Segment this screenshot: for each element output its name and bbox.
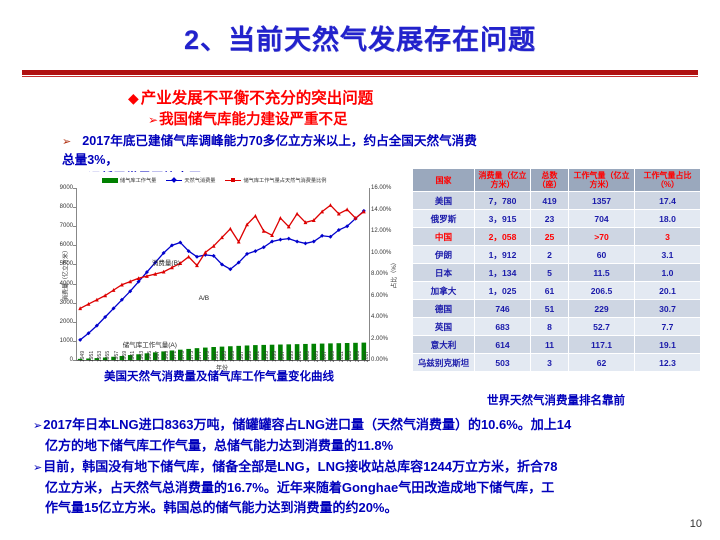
table-cell-count: 25 — [531, 228, 569, 246]
legend-item-0: 储气库工作气量 — [102, 177, 156, 184]
chart-xtick: 1949 — [80, 351, 86, 362]
table-cell-consumption: 3，915 — [475, 210, 531, 228]
table-cell-share: 1.0 — [635, 264, 701, 282]
table-cell-country: 俄罗斯 — [413, 210, 475, 228]
world-gas-table: 国家 消费量（亿立方米） 总数（座） 工作气量（亿立方米） 工作气量占比（%） … — [412, 168, 701, 372]
table-cell-share: 3.1 — [635, 246, 701, 264]
chart-xtick: 1953 — [97, 351, 103, 362]
table-cell-country: 中国 — [413, 228, 475, 246]
page-title: 2、当前天然气发展存在问题 — [184, 18, 536, 57]
table-cell-consumption: 1，912 — [475, 246, 531, 264]
table-cell-country: 美国 — [413, 192, 475, 210]
chart-xtick: 1979 — [205, 351, 211, 362]
table-cell-working-gas: 52.7 — [569, 318, 635, 336]
table-cell-working-gas: 11.5 — [569, 264, 635, 282]
legend-label-2: 储气库工作气量占天然气消费量比例 — [243, 177, 326, 184]
table-cell-count: 8 — [531, 318, 569, 336]
table-cell-consumption: 503 — [475, 354, 531, 372]
chart-xtick: 1951 — [89, 351, 95, 362]
chart-xtick: 1983 — [222, 351, 228, 362]
table-cell-working-gas: 206.5 — [569, 282, 635, 300]
page-title-wrap: 2、当前天然气发展存在问题 — [0, 18, 720, 57]
table-header-consumption: 消费量（亿立方米） — [475, 169, 531, 192]
table-body: 美国7，780419135717.4俄罗斯3，9152370418.0中国2，0… — [413, 192, 701, 372]
chart-xtick: 1973 — [180, 351, 186, 362]
chart-xtick: 1955 — [105, 351, 111, 362]
chart-xtick: 1987 — [239, 351, 245, 362]
chart-xtick: 1961 — [130, 351, 136, 362]
table-row: 美国7，780419135717.4 — [413, 192, 701, 210]
table-cell-working-gas: 60 — [569, 246, 635, 264]
table-cell-share: 19.1 — [635, 336, 701, 354]
table-cell-share: 7.7 — [635, 318, 701, 336]
table-row: 乌兹别克斯坦50336212.3 — [413, 354, 701, 372]
table-cell-consumption: 614 — [475, 336, 531, 354]
chart-ytick-left: 1000 — [60, 338, 73, 344]
bullet-level2: ➢我国储气库能力建设严重不足 — [148, 108, 348, 129]
table-header-country: 国家 — [413, 169, 475, 192]
table-cell-consumption: 1，134 — [475, 264, 531, 282]
chart-ytick-right: 6.00% — [371, 293, 388, 299]
world-gas-table-wrap: 国家 消费量（亿立方米） 总数（座） 工作气量（亿立方米） 工作气量占比（%） … — [412, 168, 700, 372]
title-divider-thin — [22, 76, 698, 77]
table-cell-share: 30.7 — [635, 300, 701, 318]
paragraph-korea: ➢目前，韩国没有地下储气库，储备全部是LNG，LNG接收站总库容1244万立方米… — [33, 457, 689, 518]
chart-ytick-right: 0.00% — [371, 357, 388, 363]
table-cell-consumption: 746 — [475, 300, 531, 318]
chart-ytick-mark — [73, 322, 76, 323]
table-cell-working-gas: 117.1 — [569, 336, 635, 354]
chart-xtick: 1991 — [255, 351, 261, 362]
legend-item-1: 天然气消费量 — [166, 177, 215, 184]
chart-ytick-right: 2.00% — [371, 336, 388, 342]
table-cell-count: 61 — [531, 282, 569, 300]
bullet-level1-text: 产业发展不平衡不充分的突出问题 — [141, 90, 374, 107]
arrow-bullet-icon: ➢ — [148, 113, 158, 127]
slide-root: 2、当前天然气发展存在问题 ◆产业发展不平衡不充分的突出问题 ➢我国储气库能力建… — [0, 0, 720, 540]
chart-ytick-mark — [73, 360, 76, 361]
gas-consumption-chart: 储气库工作气量 天然气消费量 储气库工作气量占天然气消费量比例 90008000… — [30, 172, 408, 390]
paragraph-japan-line2: 亿方的地下储气库工作气量，总储气能力达到消费量的11.8% — [45, 436, 689, 456]
chart-xtick: 2003 — [305, 351, 311, 362]
bullet-level1: ◆产业发展不平衡不充分的突出问题 — [128, 86, 373, 108]
chart-xtick: 1971 — [172, 351, 178, 362]
chart-ylabel-left: 消费量（亿立方米） — [61, 247, 70, 301]
chart-xtick: 2009 — [330, 351, 336, 362]
table-cell-count: 11 — [531, 336, 569, 354]
table-cell-consumption: 683 — [475, 318, 531, 336]
table-cell-count: 51 — [531, 300, 569, 318]
chart-xtick: 1999 — [289, 351, 295, 362]
table-row: 俄罗斯3，9152370418.0 — [413, 210, 701, 228]
table-cell-consumption: 2，058 — [475, 228, 531, 246]
table-cell-working-gas: 704 — [569, 210, 635, 228]
paragraph-korea-line3: 作气量15亿立方米。韩国总的储气能力达到消费量的约20%。 — [45, 498, 689, 518]
title-divider — [22, 70, 698, 75]
arrow-bullet-icon-3: ➢ — [33, 420, 42, 432]
table-row: 德国7465122930.7 — [413, 300, 701, 318]
chart-ytick-left: 7000 — [60, 223, 73, 229]
arrow-bullet-icon-2: ➢ — [62, 136, 71, 148]
table-cell-country: 意大利 — [413, 336, 475, 354]
table-cell-count: 5 — [531, 264, 569, 282]
chart-caption: 美国天然气消费量及储气库工作气量变化曲线 — [30, 368, 408, 384]
table-header-count: 总数（座） — [531, 169, 569, 192]
bullet-level3-line1: 2017年底已建储气库调峰能力70多亿立方米以上，约占全国天然气消费总量3%， — [62, 134, 477, 167]
table-cell-share: 3 — [635, 228, 701, 246]
paragraph-korea-line1: 目前，韩国没有地下储气库，储备全部是LNG，LNG接收站总库容1244万立方米，… — [43, 459, 557, 474]
arrow-bullet-icon-4: ➢ — [33, 462, 42, 474]
chart-xtick: 2015 — [355, 351, 361, 362]
table-row: 意大利61411117.119.1 — [413, 336, 701, 354]
paragraph-korea-line2: 亿立方米，占天然气总消费量的16.7%。近年来随着Gonghae气田改造成地下储… — [45, 478, 689, 498]
chart-xtick: 1997 — [280, 351, 286, 362]
table-cell-working-gas: >70 — [569, 228, 635, 246]
chart-xtick: 1977 — [197, 351, 203, 362]
table-header-share: 工作气量占比（%） — [635, 169, 701, 192]
table-row: 中国2，05825>703 — [413, 228, 701, 246]
table-cell-share: 20.1 — [635, 282, 701, 300]
chart-legend: 储气库工作气量 天然气消费量 储气库工作气量占天然气消费量比例 — [102, 174, 402, 186]
chart-xtick: 1989 — [247, 351, 253, 362]
table-cell-country: 日本 — [413, 264, 475, 282]
chart-xtick: 2011 — [339, 351, 345, 362]
chart-annotation-ratio: A/B — [199, 295, 209, 302]
chart-ytick-right: 16.00% — [371, 185, 391, 191]
table-cell-share: 12.3 — [635, 354, 701, 372]
legend-label-0: 储气库工作气量 — [120, 177, 156, 184]
paragraph-japan-line1: 2017年日本LNG进口8363万吨，储罐罐容占LNG进口量（天然气消费量）的1… — [43, 417, 571, 432]
table-row: 日本1，134511.51.0 — [413, 264, 701, 282]
chart-xtick: 2001 — [297, 351, 303, 362]
chart-svg — [76, 188, 368, 360]
chart-xtick: 1959 — [122, 351, 128, 362]
chart-ytick-mark — [73, 264, 76, 265]
table-caption: 世界天然气消费量排名靠前 — [412, 392, 700, 408]
chart-ytick-right: 14.00% — [371, 207, 391, 213]
chart-ytick-mark — [73, 245, 76, 246]
legend-item-2: 储气库工作气量占天然气消费量比例 — [225, 177, 326, 184]
table-row: 英国683852.77.7 — [413, 318, 701, 336]
chart-ytick-mark — [73, 207, 76, 208]
chart-ytick-left: 2000 — [60, 319, 73, 325]
table-row: 伊朗1，9122603.1 — [413, 246, 701, 264]
chart-plot-area: 9000800070006000500040003000200010000 16… — [76, 188, 368, 360]
chart-ytick-mark — [73, 303, 76, 304]
table-cell-country: 英国 — [413, 318, 475, 336]
chart-xtick: 1995 — [272, 351, 278, 362]
chart-xtick: 1985 — [230, 351, 236, 362]
table-cell-consumption: 7，780 — [475, 192, 531, 210]
table-row: 加拿大1，02561206.520.1 — [413, 282, 701, 300]
table-cell-working-gas: 229 — [569, 300, 635, 318]
table-header-row: 国家 消费量（亿立方米） 总数（座） 工作气量（亿立方米） 工作气量占比（%） — [413, 169, 701, 192]
legend-label-1: 天然气消费量 — [184, 177, 215, 184]
chart-xtick: 1965 — [147, 351, 153, 362]
paragraph-japan: ➢2017年日本LNG进口8363万吨，储罐罐容占LNG进口量（天然气消费量）的… — [33, 415, 689, 456]
chart-xtick: 1963 — [139, 351, 145, 362]
chart-annotation-consumption: 消费量(B) — [152, 257, 180, 267]
table-cell-share: 17.4 — [635, 192, 701, 210]
bullet-level2-text: 我国储气库能力建设严重不足 — [159, 112, 348, 128]
chart-xtick: 1975 — [189, 351, 195, 362]
chart-xtick: 2013 — [347, 351, 353, 362]
table-cell-share: 18.0 — [635, 210, 701, 228]
chart-ytick-left: 9000 — [60, 185, 73, 191]
table-header-workinggas: 工作气量（亿立方米） — [569, 169, 635, 192]
table-cell-count: 419 — [531, 192, 569, 210]
chart-xtick: 1981 — [214, 351, 220, 362]
chart-ytick-left: 8000 — [60, 204, 73, 210]
chart-ytick-mark — [73, 188, 76, 189]
chart-xtick: 2017 — [364, 351, 370, 362]
chart-ytick-right: 10.00% — [371, 250, 391, 256]
chart-ylabel-right: 占比（%） — [389, 259, 398, 288]
table-cell-count: 3 — [531, 354, 569, 372]
chart-annotation-working-gas: 储气库工作气量(A) — [123, 339, 177, 349]
table-cell-country: 伊朗 — [413, 246, 475, 264]
chart-ytick-mark — [73, 341, 76, 342]
chart-xtick: 1993 — [264, 351, 270, 362]
chart-ytick-mark — [73, 226, 76, 227]
legend-swatch-line-red-icon — [225, 180, 241, 181]
table-cell-country: 乌兹别克斯坦 — [413, 354, 475, 372]
table-cell-working-gas: 1357 — [569, 192, 635, 210]
table-cell-count: 2 — [531, 246, 569, 264]
chart-ytick-right: 12.00% — [371, 228, 391, 234]
chart-ytick-mark — [73, 284, 76, 285]
chart-ytick-right: 8.00% — [371, 271, 388, 277]
chart-ytick-right: 4.00% — [371, 314, 388, 320]
chart-xtick: 1969 — [164, 351, 170, 362]
chart-xtick: 2007 — [322, 351, 328, 362]
diamond-bullet-icon: ◆ — [128, 90, 139, 106]
legend-swatch-line-blue-icon — [166, 180, 182, 181]
table-cell-country: 加拿大 — [413, 282, 475, 300]
table-cell-working-gas: 62 — [569, 354, 635, 372]
chart-xtick: 2005 — [314, 351, 320, 362]
table-cell-count: 23 — [531, 210, 569, 228]
legend-swatch-bar-icon — [102, 178, 118, 183]
page-number: 10 — [690, 518, 702, 530]
chart-xtick: 1957 — [114, 351, 120, 362]
table-cell-consumption: 1，025 — [475, 282, 531, 300]
chart-xtick: 1967 — [155, 351, 161, 362]
table-cell-country: 德国 — [413, 300, 475, 318]
